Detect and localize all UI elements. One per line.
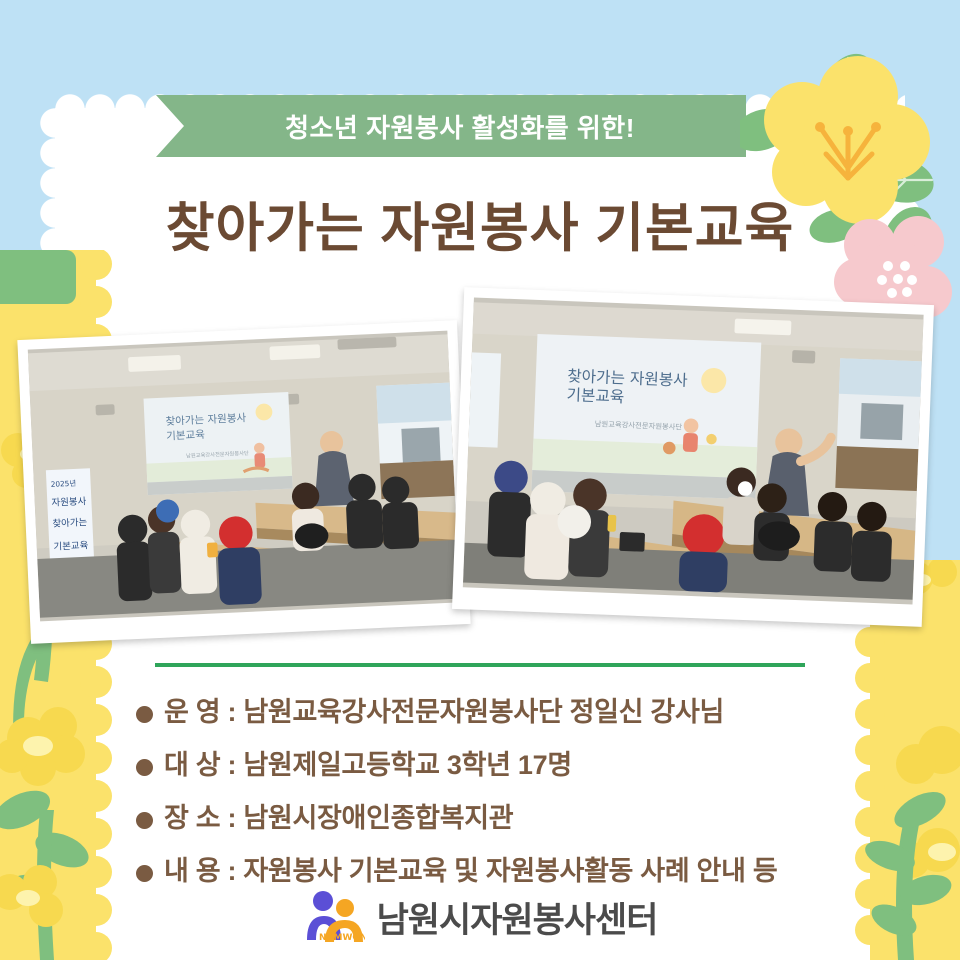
page-title: 찾아가는 자원봉사 기본교육: [0, 186, 960, 262]
ribbon-banner-text: 청소년 자원봉사 활성화를 위한!: [267, 108, 635, 145]
svg-text:2025년: 2025년: [51, 479, 77, 489]
svg-text:NAMWON: NAMWON: [319, 933, 365, 943]
detail-audience: 대 상 : 남원제일고등학교 3학년 17명: [164, 743, 572, 782]
list-item: 대 상 : 남원제일고등학교 3학년 17명: [136, 743, 896, 782]
classroom-wide-photo: 찾아가는 자원봉사 기본교육 남원교육강사전문자원봉사단 2025년 자원봉사 …: [17, 320, 470, 644]
detail-operator: 운 영 : 남원교육강사전문자원봉사단 정일신 강사님: [164, 690, 724, 729]
bullet-icon: [136, 759, 153, 776]
svg-text:자원봉사: 자원봉사: [51, 496, 87, 509]
bullet-icon: [136, 865, 153, 882]
namwon-volunteer-center-logo-icon: NAMWON: [303, 888, 365, 946]
details-list: 운 영 : 남원교육강사전문자원봉사단 정일신 강사님 대 상 : 남원제일고등…: [136, 690, 896, 902]
instructor-closeup-photo-frame: 찾아가는 자원봉사 기본교육 남원교육강사전문자원봉사단: [463, 297, 924, 604]
section-divider: [155, 663, 805, 667]
poster-canvas: 청소년 자원봉사 활성화를 위한! 찾아가는 자원봉사 기본교육: [0, 0, 960, 960]
footer-organization-name: 남원시자원봉사센터: [377, 892, 658, 943]
detail-content: 내 용 : 자원봉사 기본교육 및 자원봉사활동 사례 안내 등: [164, 849, 777, 888]
detail-location: 장 소 : 남원시장애인종합복지관: [164, 796, 513, 835]
list-item: 내 용 : 자원봉사 기본교육 및 자원봉사활동 사례 안내 등: [136, 849, 896, 888]
instructor-closeup-photo: 찾아가는 자원봉사 기본교육 남원교육강사전문자원봉사단: [452, 287, 934, 627]
svg-text:찾아가는: 찾아가는: [52, 517, 88, 530]
ribbon-banner: 청소년 자원봉사 활성화를 위한!: [156, 95, 746, 157]
list-item: 장 소 : 남원시장애인종합복지관: [136, 796, 896, 835]
bullet-icon: [136, 812, 153, 829]
classroom-wide-photo-frame: 찾아가는 자원봉사 기본교육 남원교육강사전문자원봉사단 2025년 자원봉사 …: [28, 331, 460, 622]
bullet-icon: [136, 706, 153, 723]
svg-text:기본교육: 기본교육: [53, 540, 89, 553]
svg-text:기본교육: 기본교육: [566, 385, 624, 406]
footer-branding: NAMWON 남원시자원봉사센터: [0, 888, 960, 946]
list-item: 운 영 : 남원교육강사전문자원봉사단 정일신 강사님: [136, 690, 896, 729]
svg-text:기본교육: 기본교육: [166, 429, 205, 443]
